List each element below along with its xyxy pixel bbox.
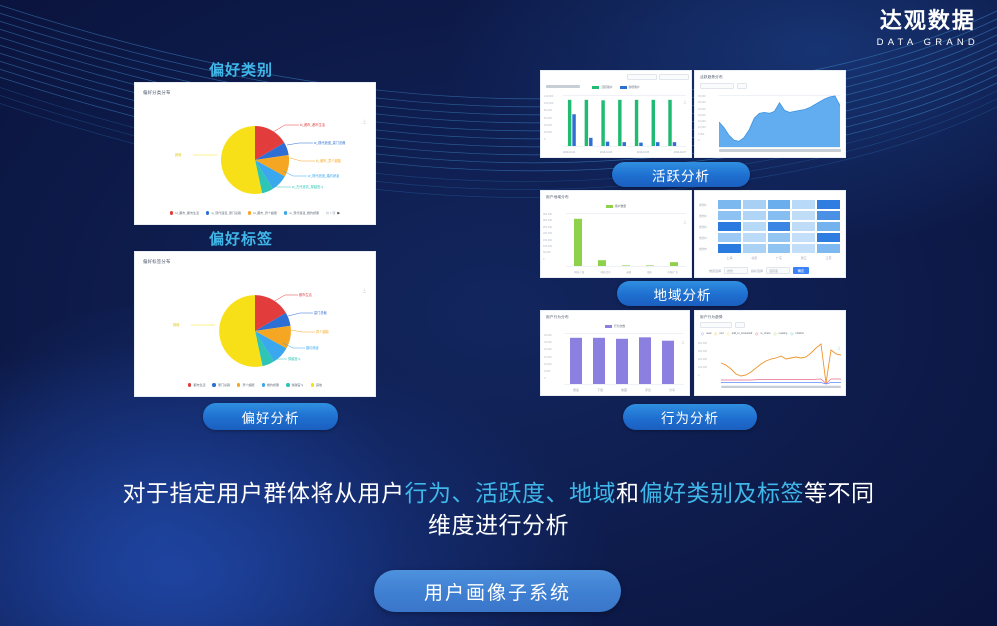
legend-item[interactable]: ◇ add_to_bookshelf [727, 331, 753, 336]
heatmap-cell[interactable] [742, 243, 767, 254]
legend-label: 行为次数 [614, 324, 625, 328]
legend-label: 新增用户 [629, 85, 640, 89]
region-bars [566, 213, 686, 266]
legend-marker-icon: ◇ [714, 331, 717, 336]
legend-item[interactable]: 穿越宫斗 [286, 383, 304, 387]
legend-label: 穿越宫斗 [292, 383, 304, 387]
legend-dot-icon [262, 383, 266, 387]
legend-marker-icon: ◇ [701, 331, 704, 336]
screenshot-activity-bar-chart: 活跃用户 新增用户 [540, 70, 692, 158]
heatmap-cell[interactable] [791, 199, 816, 210]
legend-item[interactable]: w_现代浪漫_豪门总裁 [206, 211, 241, 215]
behavior-line-y-axis: 400,000 300,000 200,000 100,000 0 [698, 340, 707, 380]
heatmap-cell[interactable] [742, 210, 767, 221]
button-user-profile-subsystem[interactable]: 用户画像子系统 [374, 570, 621, 612]
legend-item[interactable]: 婚约娇妻 [262, 383, 280, 387]
activity-area-x-axis [719, 149, 841, 155]
legend-label: 用户数量 [615, 204, 626, 208]
pie-tag-leader-lines [135, 252, 376, 397]
legend-item[interactable]: 其他 [311, 383, 323, 387]
legend-item[interactable]: 新增用户 [620, 85, 640, 89]
legend-item[interactable]: ◇ read [701, 331, 711, 336]
heatmap-cell[interactable] [791, 232, 816, 243]
legend-dot-icon [311, 383, 315, 387]
date-range-input[interactable] [700, 322, 732, 328]
heatmap-cell[interactable] [742, 232, 767, 243]
brand-name-cn: 达观数据 [877, 10, 979, 34]
heatmap-cell[interactable] [767, 243, 792, 254]
screenshot-behavior-line-chart: 用户行为趋势 ◇ read ◇ cart ◇ add_to_bookshelf … [694, 310, 846, 396]
heatmap-cell[interactable] [767, 199, 792, 210]
legend-swatch-icon [592, 86, 599, 89]
legend-item[interactable]: 豪门总裁 [212, 383, 230, 387]
pie-tag-label-5: 其他 [173, 322, 179, 327]
caption-preference-tag: 偏好标签 [209, 228, 273, 249]
heatmap-cell[interactable] [717, 232, 742, 243]
date-start-input[interactable] [627, 74, 657, 80]
heatmap-cell[interactable] [791, 221, 816, 232]
screenshot-preference-category-chart: 偏好分类分布 kl_都市_都市生活 w_现代浪漫_豪门总裁 kl_都市_异个超能… [134, 82, 376, 225]
activity-bar-legend: 活跃用户 新增用户 [541, 85, 691, 89]
heatmap-filter-bar: 维度选择 省份 指标选择 活跃度 确定 [709, 267, 809, 274]
screenshot-behavior-bar-chart: 用户行为分布 行为次数 30,000 25,000 20,000 15,000 … [540, 310, 690, 396]
legend-item[interactable]: 活跃用户 [592, 85, 612, 89]
legend-dot-icon [284, 211, 288, 215]
pie-tag-legend: 都市生活 豪门总裁 异个超能 婚约娇妻 穿越宫斗 其他 [135, 383, 375, 387]
legend-dot-icon [248, 211, 252, 215]
legend-marker-icon: ◇ [790, 331, 793, 336]
activity-area-series [719, 95, 840, 147]
legend-item[interactable]: ◇ chatbot [790, 331, 804, 336]
behavior-bar-plot [564, 333, 684, 384]
region-bar-title: 用户地域分布 [546, 195, 569, 200]
legend-item[interactable]: ◇ reading [774, 331, 788, 336]
behavior-bar-legend: 行为次数 [541, 324, 689, 328]
pie-label-4: w_古代言情_穿越宫斗 [292, 184, 323, 189]
heatmap-row-labels: 省份1 省份2 省份3 省份4 省份5 [699, 199, 707, 254]
legend-swatch-icon [605, 325, 612, 328]
legend-item[interactable]: 用户数量 [606, 204, 626, 208]
heatmap-cell[interactable] [767, 232, 792, 243]
legend-item[interactable]: 异个超能 [237, 383, 255, 387]
legend-dot-icon [237, 383, 241, 387]
date-range-input[interactable] [700, 83, 734, 89]
desc-highlight-2: 偏好类别及标签 [640, 480, 805, 506]
heatmap-cell[interactable] [742, 199, 767, 210]
brand-name-en: DATA GRAND [877, 37, 979, 48]
activity-bars [563, 95, 686, 146]
behavior-line-legend: ◇ read ◇ cart ◇ add_to_bookshelf ◇ re_sh… [701, 331, 841, 336]
pie-label-5: 其他 [175, 152, 181, 157]
screenshot-preference-tag-chart: 偏好标签分布 都市生活 豪门总裁 异个超能 婚约娇妻 穿越宫斗 其他 都市 [134, 251, 376, 397]
heatmap-cell[interactable] [717, 221, 742, 232]
activity-area-y-axis: 35,000 30,000 25,000 20,000 15,000 10,00… [698, 94, 706, 144]
desc-part-1: 对于指定用户群体将从用户 [123, 480, 405, 506]
legend-swatch-icon [620, 86, 627, 89]
filter-label-2: 指标选择 [751, 269, 763, 273]
pie-tag-label-0: 都市生活 [299, 292, 312, 297]
granularity-select[interactable] [737, 83, 747, 89]
desc-highlight-1: 行为、活跃度、地域 [405, 480, 617, 506]
button-behavior-analysis[interactable]: 行为分析 [623, 404, 757, 430]
pie-label-2: kl_都市_异个超能 [316, 158, 341, 163]
activity-area-title: 活跃趋势分布 [700, 75, 723, 80]
heatmap-grid [717, 199, 841, 254]
legend-more-label: 共 7 项 [326, 211, 335, 215]
heatmap-col-labels: 上海 北京 广东 浙江 江苏 [717, 256, 841, 260]
legend-item[interactable]: 都市生活 [188, 383, 206, 387]
legend-dot-icon [206, 211, 210, 215]
button-activity-analysis[interactable]: 活跃分析 [612, 162, 750, 187]
button-preference-analysis[interactable]: 偏好分析 [203, 403, 338, 430]
legend-marker-icon: ◇ [755, 331, 758, 336]
screenshot-activity-area-chart: 活跃趋势分布 35,000 30,000 25,000 20,000 15,00… [694, 70, 846, 158]
legend-item[interactable]: kl_都市_异个超能 [248, 211, 277, 215]
legend-marker-icon: ◇ [727, 331, 730, 336]
chevron-right-icon[interactable]: ▶ [337, 211, 340, 215]
legend-marker-icon: ◇ [774, 331, 777, 336]
desc-part-2: 和 [616, 480, 640, 506]
heatmap-cell[interactable] [717, 199, 742, 210]
behavior-bar-y-axis: 30,000 25,000 20,000 15,000 10,000 5,000… [544, 332, 552, 382]
heatmap-submit-button[interactable]: 确定 [793, 267, 809, 274]
legend-item[interactable]: ◇ re_share [755, 331, 770, 336]
button-region-analysis[interactable]: 地域分析 [617, 281, 748, 306]
region-bar-legend: 用户数量 [541, 204, 691, 208]
heatmap-cell[interactable] [767, 210, 792, 221]
pie-category-leader-lines [135, 83, 376, 225]
date-end-input[interactable] [659, 74, 689, 80]
behavior-bars [564, 333, 684, 384]
region-bar-x-axis: 中国-上海 中国-北京 未知 海外 中国-广东 [566, 270, 686, 274]
legend-label: kl_都市_异个超能 [253, 211, 277, 215]
brand-logo: 达观数据 DATA GRAND [877, 10, 979, 48]
legend-label: 其他 [316, 383, 322, 387]
legend-label: w_现代浪漫_婚约娇妻 [289, 211, 319, 215]
pie-category-legend: kl_都市_都市生活 w_现代浪漫_豪门总裁 kl_都市_异个超能 w_现代浪漫… [135, 211, 375, 215]
pie-tag-label-4: 穿越宫斗 [288, 356, 301, 361]
legend-item[interactable]: ◇ cart [714, 331, 723, 336]
legend-label: 婚约娇妻 [267, 383, 279, 387]
pie-tag-label-3: 婚约娇妻 [306, 345, 319, 350]
heatmap-cell[interactable] [717, 243, 742, 254]
pie-tag-label-1: 豪门总裁 [314, 310, 327, 315]
screenshot-region-heatmap: 省份1 省份2 省份3 省份4 省份5 上海 北京 广东 [694, 190, 846, 278]
heatmap-cell[interactable] [717, 210, 742, 221]
legend-label: 异个超能 [242, 383, 254, 387]
heatmap-cell[interactable] [816, 221, 841, 232]
region-bar-y-axis: 350,000 300,000 250,000 200,000 150,000 … [543, 212, 552, 263]
heatmap-cell[interactable] [791, 243, 816, 254]
legend-label: 都市生活 [193, 383, 205, 387]
heatmap-cell[interactable] [816, 199, 841, 210]
behavior-line-x-axis [721, 375, 841, 393]
legend-swatch-icon [606, 205, 613, 208]
activity-area-plot [719, 95, 840, 147]
heatmap-cell[interactable] [816, 243, 841, 254]
pie-label-1: w_现代浪漫_豪门总裁 [314, 140, 345, 145]
heatmap-cell[interactable] [816, 232, 841, 243]
filter-select-1[interactable]: 省份 [724, 267, 748, 274]
activity-bar-y-axis: 120,000 100,000 80,000 60,000 40,000 20,… [544, 93, 553, 143]
pie-label-3: w_现代浪漫_婚约娇妻 [308, 173, 339, 178]
legend-label: w_现代浪漫_豪门总裁 [211, 211, 241, 215]
heatmap-cell[interactable] [742, 221, 767, 232]
pie-label-0: kl_都市_都市生活 [300, 122, 325, 127]
activity-bar-title [546, 75, 580, 93]
legend-dot-icon [286, 383, 290, 387]
heatmap-cell[interactable] [791, 210, 816, 221]
page-description: 对于指定用户群体将从用户行为、活跃度、地域和偏好类别及标签等不同维度进行分析 [120, 478, 877, 541]
legend-label: 活跃用户 [601, 85, 612, 89]
legend-dot-icon [188, 383, 192, 387]
legend-dot-icon [212, 383, 216, 387]
heatmap-cell[interactable] [767, 221, 792, 232]
activity-bar-x-axis: 2019-10-01 2019-10-03 2019-10-05 2019-10… [563, 151, 686, 154]
filter-select-2[interactable]: 活跃度 [766, 267, 790, 274]
legend-label: kl_都市_都市生活 [175, 211, 199, 215]
legend-item[interactable]: kl_都市_都市生活 [170, 211, 199, 215]
behavior-bar-x-axis: 阅读 下载 收藏 评论 分享 [564, 388, 684, 392]
behavior-bar-title: 用户行为分布 [546, 315, 569, 320]
legend-dot-icon [170, 211, 174, 215]
activity-bar-plot [563, 95, 686, 146]
legend-item[interactable]: 行为次数 [605, 324, 625, 328]
pie-tag-label-2: 异个超能 [316, 329, 329, 334]
behavior-line-title: 用户行为趋势 [700, 315, 723, 320]
heatmap-cell[interactable] [816, 210, 841, 221]
legend-label: 豪门总裁 [218, 383, 230, 387]
filter-label-1: 维度选择 [709, 269, 721, 273]
legend-item[interactable]: w_现代浪漫_婚约娇妻 [284, 211, 319, 215]
screenshot-region-bar-chart: 用户地域分布 用户数量 350,000 300,000 250,000 200,… [540, 190, 692, 278]
legend-pager[interactable]: 共 7 项 ▶ [326, 211, 340, 215]
region-bar-plot [566, 213, 686, 266]
caption-preference-category: 偏好类别 [209, 59, 273, 80]
granularity-select[interactable] [735, 322, 745, 328]
